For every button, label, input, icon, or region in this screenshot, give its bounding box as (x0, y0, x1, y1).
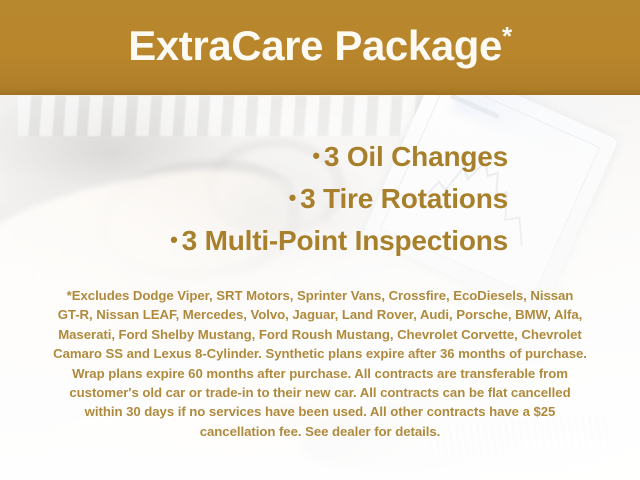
list-item: •3 Oil Changes (0, 137, 508, 179)
disclaimer-line: Camaro SS and Lexus 8-Cylinder. Syntheti… (36, 344, 604, 363)
disclaimer-line: within 30 days if no services have been … (36, 402, 604, 421)
page-title-text: ExtraCare Package (128, 22, 502, 69)
disclaimer-line: GT-R, Nissan LEAF, Mercedes, Volvo, Jagu… (36, 305, 604, 324)
benefits-list: •3 Oil Changes •3 Tire Rotations •3 Mult… (0, 137, 640, 263)
disclaimer-line: *Excludes Dodge Viper, SRT Motors, Sprin… (36, 286, 604, 305)
benefit-label: 3 Oil Changes (324, 141, 508, 172)
benefit-label: 3 Tire Rotations (300, 183, 508, 214)
list-item: •3 Tire Rotations (0, 179, 508, 221)
bullet-dot-icon: • (170, 227, 178, 252)
extracare-package-poster: ExtraCare Package* •3 Oil Changes •3 Tir… (0, 0, 640, 480)
disclaimer-line: Wrap plans expire 60 months after purcha… (36, 364, 604, 383)
page-title-asterisk: * (502, 21, 512, 51)
disclaimer-line: Maserati, Ford Shelby Mustang, Ford Rous… (36, 325, 604, 344)
list-item: •3 Multi-Point Inspections (0, 221, 508, 263)
bullet-dot-icon: • (312, 143, 320, 168)
bullet-dot-icon: • (289, 185, 297, 210)
disclaimer-line: cancellation fee. See dealer for details… (36, 422, 604, 441)
disclaimer-line: customer's old car or trade-in to their … (36, 383, 604, 402)
page-title: ExtraCare Package* (128, 25, 512, 67)
header-banner: ExtraCare Package* (0, 0, 640, 95)
benefit-label: 3 Multi-Point Inspections (182, 225, 508, 256)
disclaimer-text: *Excludes Dodge Viper, SRT Motors, Sprin… (36, 286, 604, 441)
